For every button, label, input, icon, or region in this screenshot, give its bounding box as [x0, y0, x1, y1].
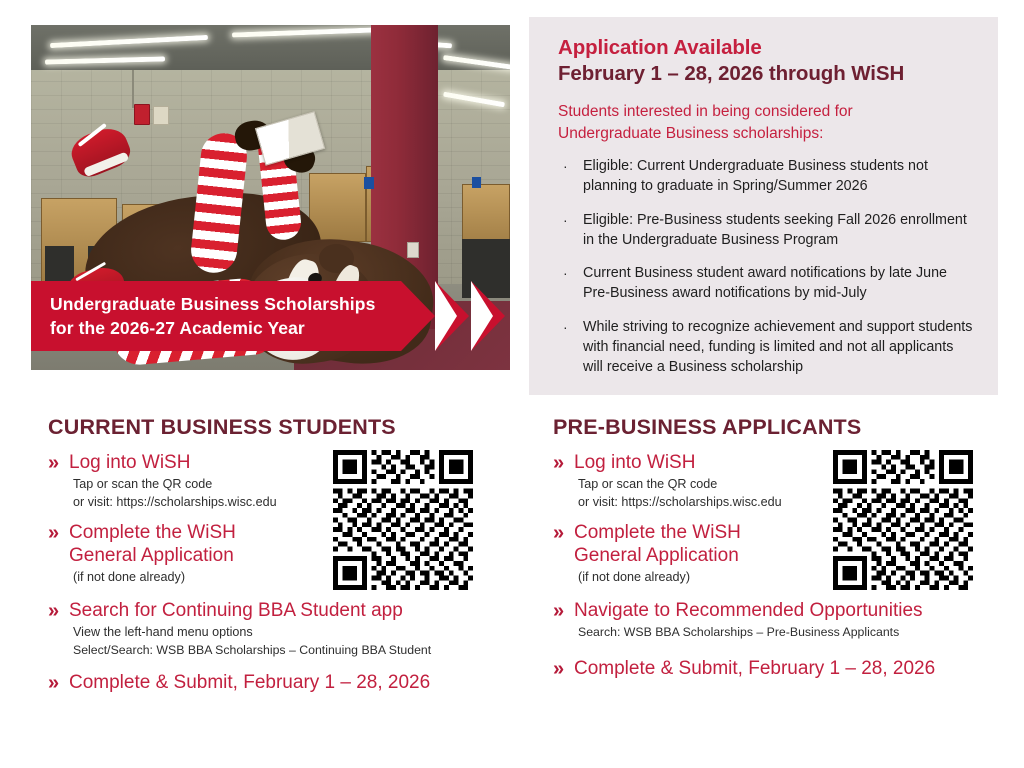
list-item: » Complete & Submit, February 1 – 28, 20…	[553, 658, 1023, 681]
bullet-dot-icon: ·	[563, 318, 568, 337]
panel-intro-line2: Undergraduate Business scholarships:	[558, 123, 976, 144]
bullet-text: While striving to recognize achievement …	[583, 319, 972, 375]
mascot-sneaker	[67, 122, 135, 182]
chevron-bullet-icon: »	[553, 451, 564, 476]
section-title: CURRENT BUSINESS STUDENTS	[48, 415, 518, 440]
panel-intro: Students interested in being considered …	[558, 101, 976, 143]
list-item: · Current Business student award notific…	[558, 264, 976, 304]
qr-code-image	[830, 450, 976, 590]
chevron-bullet-icon: »	[48, 451, 59, 476]
chevron-bullet-icon: »	[48, 671, 59, 696]
chevron-bullet-icon: »	[553, 657, 564, 682]
bullet-text: Eligible: Pre-Business students seeking …	[583, 212, 967, 248]
panel-heading-line2: February 1 – 28, 2026 through WiSH	[558, 61, 976, 87]
ribbon-caption-line1: Undergraduate Business Scholarships	[50, 292, 390, 316]
section-title: PRE-BUSINESS APPLICANTS	[553, 415, 1023, 440]
step-title: Search for Continuing BBA Student app	[69, 600, 518, 623]
list-item: » Navigate to Recommended Opportunities …	[553, 600, 1023, 640]
wall-conduit	[132, 70, 134, 108]
panel-intro-line1: Students interested in being considered …	[558, 101, 976, 122]
bullet-dot-icon: ·	[563, 211, 568, 230]
bullet-dot-icon: ·	[563, 157, 568, 176]
chevron-notch	[435, 281, 457, 351]
fire-alarm-icon	[134, 104, 150, 125]
list-item: · While striving to recognize achievemen…	[558, 318, 976, 378]
bullet-text: Eligible: Current Undergraduate Business…	[583, 158, 928, 194]
qr-code-current-business[interactable]	[330, 450, 476, 590]
panel-heading-line1: Application Available	[558, 35, 976, 61]
list-item: · Eligible: Current Undergraduate Busine…	[558, 157, 976, 197]
step-title: Complete & Submit, February 1 – 28, 2026	[574, 658, 1023, 681]
step-title: Navigate to Recommended Opportunities	[574, 600, 1023, 623]
ribbon-point	[401, 281, 435, 351]
step-subtext: Search: WSB BBA Scholarships – Pre-Busin…	[574, 624, 1023, 640]
chevron-notch	[471, 281, 493, 351]
bullet-text: Current Business student award notificat…	[583, 265, 947, 301]
eligibility-bullet-list: · Eligible: Current Undergraduate Busine…	[558, 157, 976, 378]
chevron-bullet-icon: »	[553, 599, 564, 624]
step-title: Complete & Submit, February 1 – 28, 2026	[69, 672, 518, 695]
chevron-bullet-icon: »	[48, 599, 59, 624]
step-subtext: Select/Search: WSB BBA Scholarships – Co…	[69, 642, 518, 658]
qr-code-pre-business[interactable]	[830, 450, 976, 590]
chevron-bullet-icon: »	[553, 521, 564, 546]
bullet-dot-icon: ·	[563, 264, 568, 283]
sneaker-sole	[83, 152, 129, 177]
wall-box	[153, 106, 169, 125]
ribbon-caption-line2: for the 2026-27 Academic Year	[50, 316, 390, 340]
flyer-page: Undergraduate Business Scholarships for …	[0, 0, 1024, 768]
list-item: · Eligible: Pre-Business students seekin…	[558, 211, 976, 251]
qr-code-image	[330, 450, 476, 590]
chevron-bullet-icon: »	[48, 521, 59, 546]
application-info-panel: Application Available February 1 – 28, 2…	[529, 17, 998, 395]
step-subtext: View the left-hand menu options	[69, 624, 518, 641]
ribbon-caption: Undergraduate Business Scholarships for …	[50, 292, 390, 340]
list-item: » Complete & Submit, February 1 – 28, 20…	[48, 672, 518, 695]
list-item: » Search for Continuing BBA Student app …	[48, 600, 518, 658]
photo-caption-ribbon: Undergraduate Business Scholarships for …	[31, 281, 510, 351]
